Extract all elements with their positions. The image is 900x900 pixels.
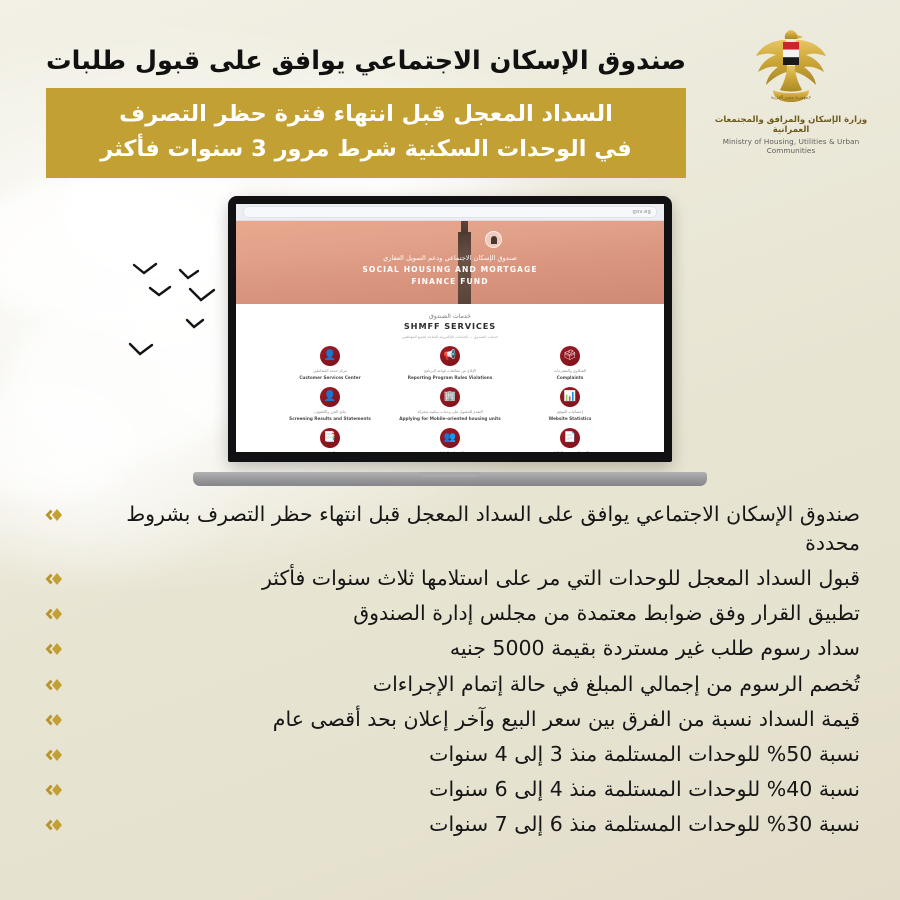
service-item[interactable]: 👤مركز خدمة المتعاملينCustomer Services C… bbox=[270, 346, 390, 380]
bullet-item: تُخصم الرسوم من إجمالي المبلغ في حالة إت… bbox=[40, 670, 860, 699]
double-diamond-icon bbox=[44, 780, 66, 800]
hero-title-english-line1: SOCIAL HOUSING AND MORTGAGE bbox=[236, 265, 664, 274]
template-icon: 📑 bbox=[320, 428, 340, 448]
laptop-notch bbox=[419, 472, 481, 477]
bullet-text: نسبة 50% للوحدات المستلمة منذ 3 إلى 4 سن… bbox=[70, 740, 860, 769]
bullet-item: نسبة 40% للوحدات المستلمة منذ 4 إلى 6 سن… bbox=[40, 775, 860, 804]
bullet-item: نسبة 30% للوحدات المستلمة منذ 6 إلى 7 سن… bbox=[40, 810, 860, 839]
service-item[interactable]: 👤نتائج الفرز والكشوفScreening Results an… bbox=[270, 387, 390, 421]
browser-chrome: gov.eg bbox=[236, 204, 664, 221]
double-diamond-icon bbox=[44, 505, 66, 525]
double-diamond-icon bbox=[44, 745, 66, 765]
bullet-marker-container bbox=[40, 599, 70, 624]
service-label-english: Reporting Program Rules Violations bbox=[390, 375, 510, 380]
double-diamond-icon bbox=[44, 710, 66, 730]
bullet-text: تُخصم الرسوم من إجمالي المبلغ في حالة إت… bbox=[70, 670, 860, 699]
bullet-marker-container bbox=[40, 740, 70, 765]
bullet-text: قبول السداد المعجل للوحدات التي مر على ا… bbox=[70, 564, 860, 593]
service-label-arabic: مركز خدمة المتعاملين bbox=[270, 369, 390, 374]
cloud-shape bbox=[0, 380, 140, 500]
browser-url-text: gov.eg bbox=[633, 209, 651, 215]
service-label-english: Customer Services Center bbox=[270, 375, 390, 380]
service-label-arabic: نتائج الفرز والكشوف bbox=[270, 410, 390, 415]
service-label-arabic: الإبلاغ عن مخالفات قواعد البرنامج bbox=[390, 369, 510, 374]
bullet-marker-container bbox=[40, 670, 70, 695]
bird-icon bbox=[128, 342, 154, 358]
website-hero-banner: صندوق الإسكان الاجتماعي ودعم التمويل الع… bbox=[236, 221, 664, 304]
service-item[interactable]: 📊إحصائيات الموقعWebsite Statistics bbox=[510, 387, 630, 421]
service-label-english: Applying for Mobile-oriented housing uni… bbox=[390, 416, 510, 421]
gold-banner-line2: في الوحدات السكنية شرط مرور 3 سنوات فأكث… bbox=[56, 132, 676, 167]
bullet-item: قبول السداد المعجل للوحدات التي مر على ا… bbox=[40, 564, 860, 593]
service-item[interactable]: 📄الاستعلام وتقديم الطلباتInquiry and App… bbox=[510, 428, 630, 452]
ministry-name-english: Ministry of Housing, Utilities & Urban C… bbox=[700, 137, 882, 155]
building-icon: 🏢 bbox=[440, 387, 460, 407]
service-item[interactable]: 📢الإبلاغ عن مخالفات قواعد البرنامجReport… bbox=[390, 346, 510, 380]
service-label-arabic: الاستعلام وتقديم الطلبات bbox=[510, 451, 630, 452]
chart-icon: 📊 bbox=[560, 387, 580, 407]
browser-url-bar[interactable]: gov.eg bbox=[243, 206, 657, 218]
eagle-emblem-icon: جمهورية مصر العربية bbox=[753, 26, 829, 110]
double-diamond-icon bbox=[44, 815, 66, 835]
bullet-text: صندوق الإسكان الاجتماعي يوافق على السداد… bbox=[70, 500, 860, 558]
bullet-marker-container bbox=[40, 634, 70, 659]
ministry-name-arabic: وزارة الإسكان والمرافق والمجتمعات العمرا… bbox=[700, 115, 882, 135]
bullet-marker-container bbox=[40, 705, 70, 730]
services-subtitle: خدمات الصندوق — الخدمات الإلكترونية المت… bbox=[270, 335, 630, 339]
service-label-arabic: الخدمات التفاعلية bbox=[390, 451, 510, 452]
double-diamond-icon bbox=[44, 675, 66, 695]
shmff-emblem-icon bbox=[485, 231, 502, 248]
service-label-arabic: التقدم للحصول على وحدات سكنية متحركة bbox=[390, 410, 510, 415]
user-check-icon: 👤 bbox=[320, 387, 340, 407]
service-label-arabic: إحصائيات الموقع bbox=[510, 410, 630, 415]
double-diamond-icon bbox=[44, 604, 66, 624]
cloud-shape bbox=[0, 175, 220, 325]
bird-icon bbox=[132, 262, 158, 278]
infographic-poster: صندوق الإسكان الاجتماعي يوافق على قبول ط… bbox=[0, 0, 900, 900]
bullet-text: قيمة السداد نسبة من الفرق بين سعر البيع … bbox=[70, 705, 860, 734]
service-label-english: Website Statistics bbox=[510, 416, 630, 421]
double-diamond-icon bbox=[44, 569, 66, 589]
bullet-item: سداد رسوم طلب غير مستردة بقيمة 5000 جنيه bbox=[40, 634, 860, 663]
double-diamond-icon bbox=[44, 639, 66, 659]
hero-title-arabic: صندوق الإسكان الاجتماعي ودعم التمويل الع… bbox=[236, 254, 664, 262]
service-item[interactable]: 📑النماذجTemplates bbox=[270, 428, 390, 452]
laptop-screen: gov.eg صندوق الإسكان الاجتماعي ودعم التم… bbox=[236, 204, 664, 452]
service-label-english: Screening Results and Statements bbox=[270, 416, 390, 421]
bullet-marker-container bbox=[40, 775, 70, 800]
complaint-box-icon: 🗳 bbox=[560, 346, 580, 366]
bullet-item: تطبيق القرار وفق ضوابط معتمدة من مجلس إد… bbox=[40, 599, 860, 628]
bullet-marker-container bbox=[40, 564, 70, 589]
bullet-text: نسبة 40% للوحدات المستلمة منذ 4 إلى 6 سن… bbox=[70, 775, 860, 804]
service-label-english: Complaints bbox=[510, 375, 630, 380]
bullet-marker-container bbox=[40, 500, 70, 525]
page-headline: صندوق الإسكان الاجتماعي يوافق على قبول ط… bbox=[46, 46, 686, 77]
bullet-text: نسبة 30% للوحدات المستلمة منذ 6 إلى 7 سن… bbox=[70, 810, 860, 839]
bullet-item: نسبة 50% للوحدات المستلمة منذ 3 إلى 4 سن… bbox=[40, 740, 860, 769]
service-item[interactable]: 🏢التقدم للحصول على وحدات سكنية متحركةApp… bbox=[390, 387, 510, 421]
document-icon: 📄 bbox=[560, 428, 580, 448]
service-item[interactable]: 🗳الشكاوى والمقترحاتComplaints bbox=[510, 346, 630, 380]
service-item[interactable]: 👥الخدمات التفاعليةSub-Interactive bbox=[390, 428, 510, 452]
gold-banner: السداد المعجل قبل انتهاء فترة حظر التصرف… bbox=[46, 88, 686, 178]
laptop-mockup: gov.eg صندوق الإسكان الاجتماعي ودعم التم… bbox=[193, 196, 707, 486]
services-section: خدمات الصندوق SHMFF SERVICES خدمات الصند… bbox=[236, 304, 664, 452]
laptop-base bbox=[193, 472, 707, 486]
megaphone-icon: 📢 bbox=[440, 346, 460, 366]
services-grid: 🗳الشكاوى والمقترحاتComplaints📢الإبلاغ عن… bbox=[270, 346, 630, 452]
service-label-arabic: النماذج bbox=[270, 451, 390, 452]
gold-banner-line1: السداد المعجل قبل انتهاء فترة حظر التصرف bbox=[119, 101, 613, 127]
bullet-text: سداد رسوم طلب غير مستردة بقيمة 5000 جنيه bbox=[70, 634, 860, 663]
bullet-item: صندوق الإسكان الاجتماعي يوافق على السداد… bbox=[40, 500, 860, 558]
user-headset-icon: 👤 bbox=[320, 346, 340, 366]
bullet-item: قيمة السداد نسبة من الفرق بين سعر البيع … bbox=[40, 705, 860, 734]
bird-icon bbox=[148, 285, 172, 300]
laptop-lid: gov.eg صندوق الإسكان الاجتماعي ودعم التم… bbox=[228, 196, 672, 462]
svg-text:جمهورية مصر العربية: جمهورية مصر العربية bbox=[771, 96, 812, 101]
hero-title-english-line2: FINANCE FUND bbox=[236, 277, 664, 286]
bullet-marker-container bbox=[40, 810, 70, 835]
people-icon: 👥 bbox=[440, 428, 460, 448]
ministry-logo: جمهورية مصر العربية وزارة الإسكان والمرا… bbox=[700, 26, 882, 155]
bullet-text: تطبيق القرار وفق ضوابط معتمدة من مجلس إد… bbox=[70, 599, 860, 628]
service-label-arabic: الشكاوى والمقترحات bbox=[510, 369, 630, 374]
hero-text-block: صندوق الإسكان الاجتماعي ودعم التمويل الع… bbox=[236, 254, 664, 286]
bullet-list: صندوق الإسكان الاجتماعي يوافق على السداد… bbox=[40, 500, 860, 845]
services-title-english: SHMFF SERVICES bbox=[270, 321, 630, 331]
services-title-arabic: خدمات الصندوق bbox=[270, 313, 630, 320]
